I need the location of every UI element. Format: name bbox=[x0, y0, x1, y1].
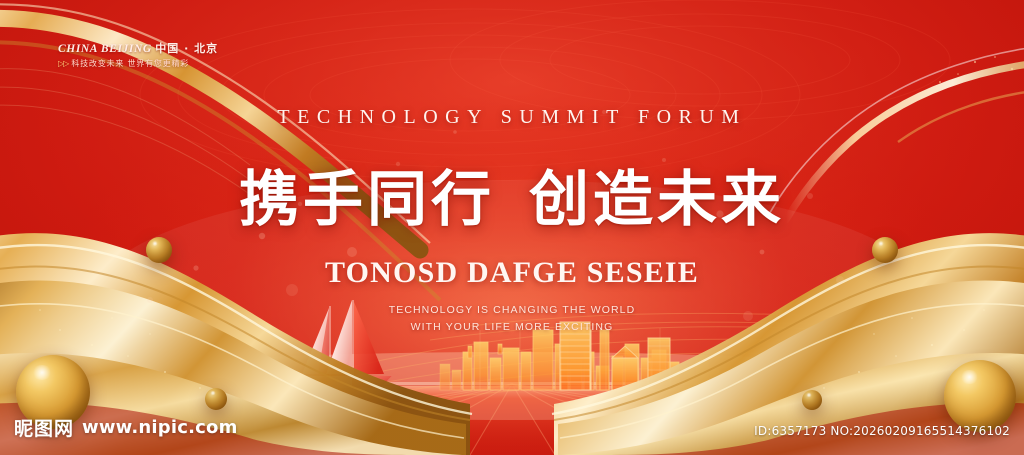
watermark-logo-text: 昵图网 bbox=[14, 414, 74, 441]
watermark-url: www.nipic.com bbox=[82, 417, 238, 438]
watermark: 昵图网 www.nipic.com bbox=[14, 414, 238, 441]
page-title: 携手同行创造未来 bbox=[0, 151, 1024, 238]
headline-right: 创造未来 bbox=[529, 165, 785, 235]
headline-left: 携手同行 bbox=[239, 165, 495, 235]
poster-canvas: CHINA BEIJING 中国 · 北京 ▷▷科技改变未来 世界有您更精彩 T… bbox=[0, 0, 1024, 455]
tagline-block: TECHNOLOGY IS CHANGING THE WORLD WITH YO… bbox=[0, 302, 1024, 337]
eyebrow-text: TECHNOLOGY SUMMIT FORUM bbox=[0, 106, 1024, 129]
tagline-line-2: WITH YOUR LIFE MORE EXCITING bbox=[0, 319, 1024, 336]
subhead-text: TONOSD DAFGE SESEIE bbox=[0, 256, 1024, 290]
asset-id-label: ID:6357173 NO:20260209165514376102 bbox=[754, 424, 1010, 438]
tagline-line-1: TECHNOLOGY IS CHANGING THE WORLD bbox=[0, 302, 1024, 319]
headline-block: TECHNOLOGY SUMMIT FORUM 携手同行创造未来 TONOSD … bbox=[0, 0, 1024, 337]
